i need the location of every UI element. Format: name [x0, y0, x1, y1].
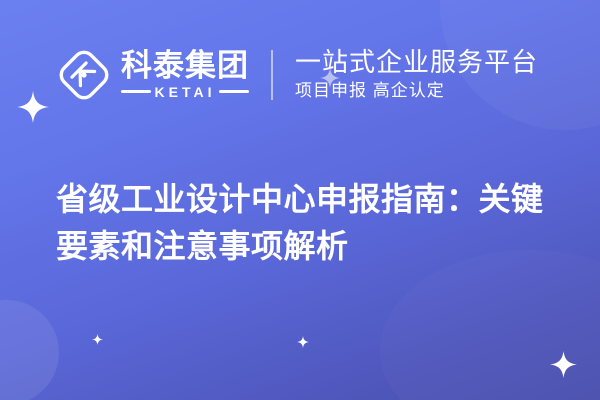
logo-rule-left — [121, 90, 151, 93]
circle-blob-middle — [380, 250, 600, 400]
brand-name-cn: 科泰集团 — [121, 50, 249, 82]
sparkle-icon-bottom-right — [550, 351, 577, 378]
brand-name-en-row: KETAI — [121, 84, 249, 100]
brand-logo[interactable]: 科泰集团 KETAI — [56, 47, 249, 103]
vertical-divider — [271, 50, 273, 100]
circle-blob-bottom-left — [0, 300, 59, 400]
sparkle-icon-logo-left — [17, 91, 49, 123]
brand-logo-text: 科泰集团 KETAI — [121, 50, 249, 100]
logo-rule-right — [219, 90, 249, 93]
sparkle-icon-small-center — [297, 336, 309, 348]
sparkle-icon-small-left — [92, 334, 103, 345]
ketai-diamond-monogram-icon — [56, 47, 112, 103]
promo-banner: 科泰集团 KETAI 一站式企业服务平台 项目申报 高企认定 省级工业设计中心申… — [0, 0, 600, 400]
tagline-main: 一站式企业服务平台 — [295, 47, 538, 77]
tagline-block: 一站式企业服务平台 项目申报 高企认定 — [295, 47, 538, 103]
tagline-sub: 项目申报 高企认定 — [295, 80, 538, 103]
banner-header: 科泰集团 KETAI 一站式企业服务平台 项目申报 高企认定 — [0, 36, 600, 114]
brand-name-en: KETAI — [155, 84, 216, 100]
banner-title: 省级工业设计中心申报指南：关键要素和注意事项解析 — [56, 176, 556, 269]
